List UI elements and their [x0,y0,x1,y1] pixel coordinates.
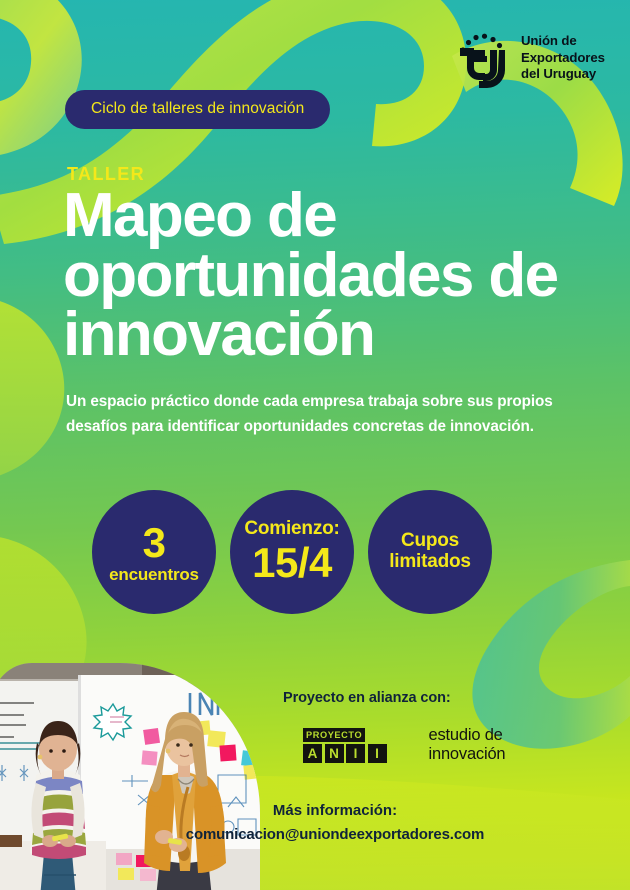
highlight-label: Comienzo: [244,519,339,540]
highlight-value: 15/4 [252,540,332,585]
estudio-innovacion-wordmark: estudio de innovación [429,726,506,765]
anii-logo: PROYECTO A N I I [303,728,387,764]
anii-letter-i2: I [368,744,387,763]
page-title: Mapeo de oportunidades de innovación [63,186,603,365]
highlight-circle-cupos: Cupos limitados [368,490,492,614]
anii-letter-i1: I [346,744,365,763]
workshop-photo [0,663,260,890]
highlight-label: encuentros [109,566,199,584]
highlight-circle-encuentros: 3 encuentros [92,490,216,614]
cycle-badge: Ciclo de talleres de innovación [65,90,330,129]
contact-block: Más información: comunicacion@uniondeexp… [0,802,630,843]
union-exportadores-monogram-icon [452,28,512,88]
highlight-value: 3 [143,520,166,565]
contact-email[interactable]: comunicacion@uniondeexportadores.com [40,826,630,843]
anii-proyecto-label: PROYECTO [303,728,365,743]
contact-label: Más información: [40,802,630,819]
logo-wordmark: Unión de Exportadores del Uruguay [521,33,605,83]
highlight-circle-comienzo: Comienzo: 15/4 [230,490,354,614]
highlight-label: Cupos [401,531,459,552]
anii-letter-a: A [303,744,322,763]
brand-logo: Unión de Exportadores del Uruguay [452,28,605,88]
poster-root: Unión de Exportadores del Uruguay Ciclo … [0,0,630,890]
description-text: Un espacio práctico donde cada empresa t… [66,390,594,440]
alliance-heading: Proyecto en alianza con: [283,690,451,706]
highlight-circles: 3 encuentros Comienzo: 15/4 Cupos limita… [92,490,492,614]
anii-letter-boxes: A N I I [303,744,387,763]
anii-letter-n: N [325,744,344,763]
workshop-photo-image [0,663,260,890]
highlight-label-2: limitados [389,552,471,573]
partner-logos: PROYECTO A N I I estudio de innovación [303,726,505,765]
